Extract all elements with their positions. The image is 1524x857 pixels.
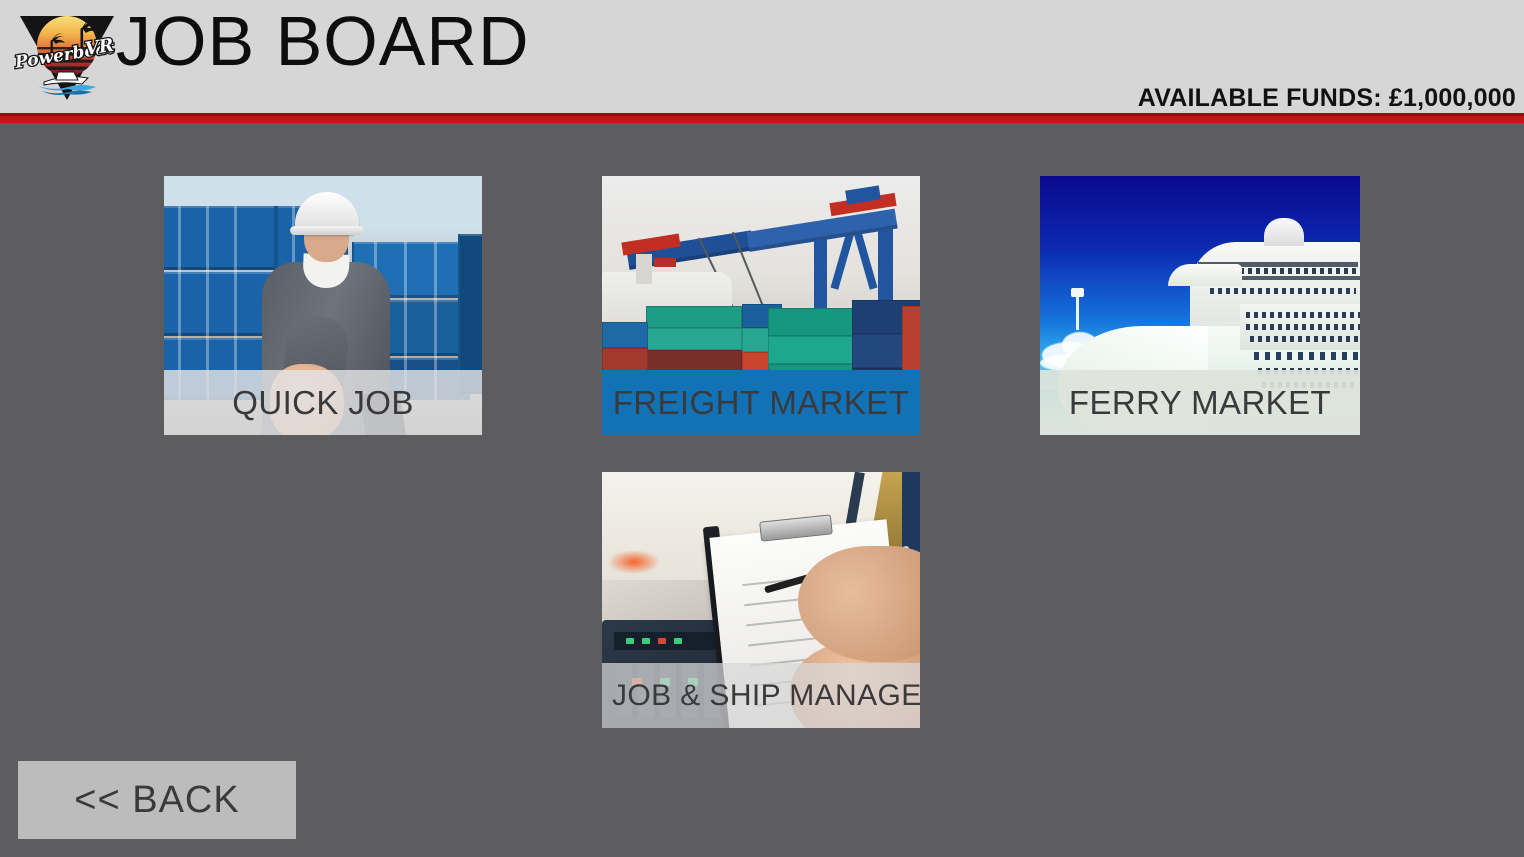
card-ferry-market-label: FERRY MARKET xyxy=(1040,370,1360,435)
header-divider xyxy=(0,113,1524,123)
powerboat-vr-logo: Powerboat VR xyxy=(8,2,126,106)
card-freight-market-label: FREIGHT MARKET xyxy=(602,370,920,435)
svg-text:VR: VR xyxy=(83,35,115,60)
page-title: JOB BOARD xyxy=(116,0,530,84)
card-freight-market[interactable]: FREIGHT MARKET xyxy=(602,176,920,435)
card-quick-job-label: QUICK JOB xyxy=(164,370,482,435)
card-job-ship-management-label: JOB & SHIP MANAGEMENT xyxy=(602,663,920,728)
card-job-ship-management[interactable]: JOB & SHIP MANAGEMENT xyxy=(602,472,920,728)
card-quick-job[interactable]: QUICK JOB xyxy=(164,176,482,435)
app-header: Powerboat VR JOB BOARD AVAILABLE FUNDS: … xyxy=(0,0,1524,113)
available-funds: AVAILABLE FUNDS: £1,000,000 xyxy=(1138,84,1516,113)
back-button[interactable]: << BACK xyxy=(18,761,296,839)
card-ferry-market[interactable]: FERRY MARKET xyxy=(1040,176,1360,435)
